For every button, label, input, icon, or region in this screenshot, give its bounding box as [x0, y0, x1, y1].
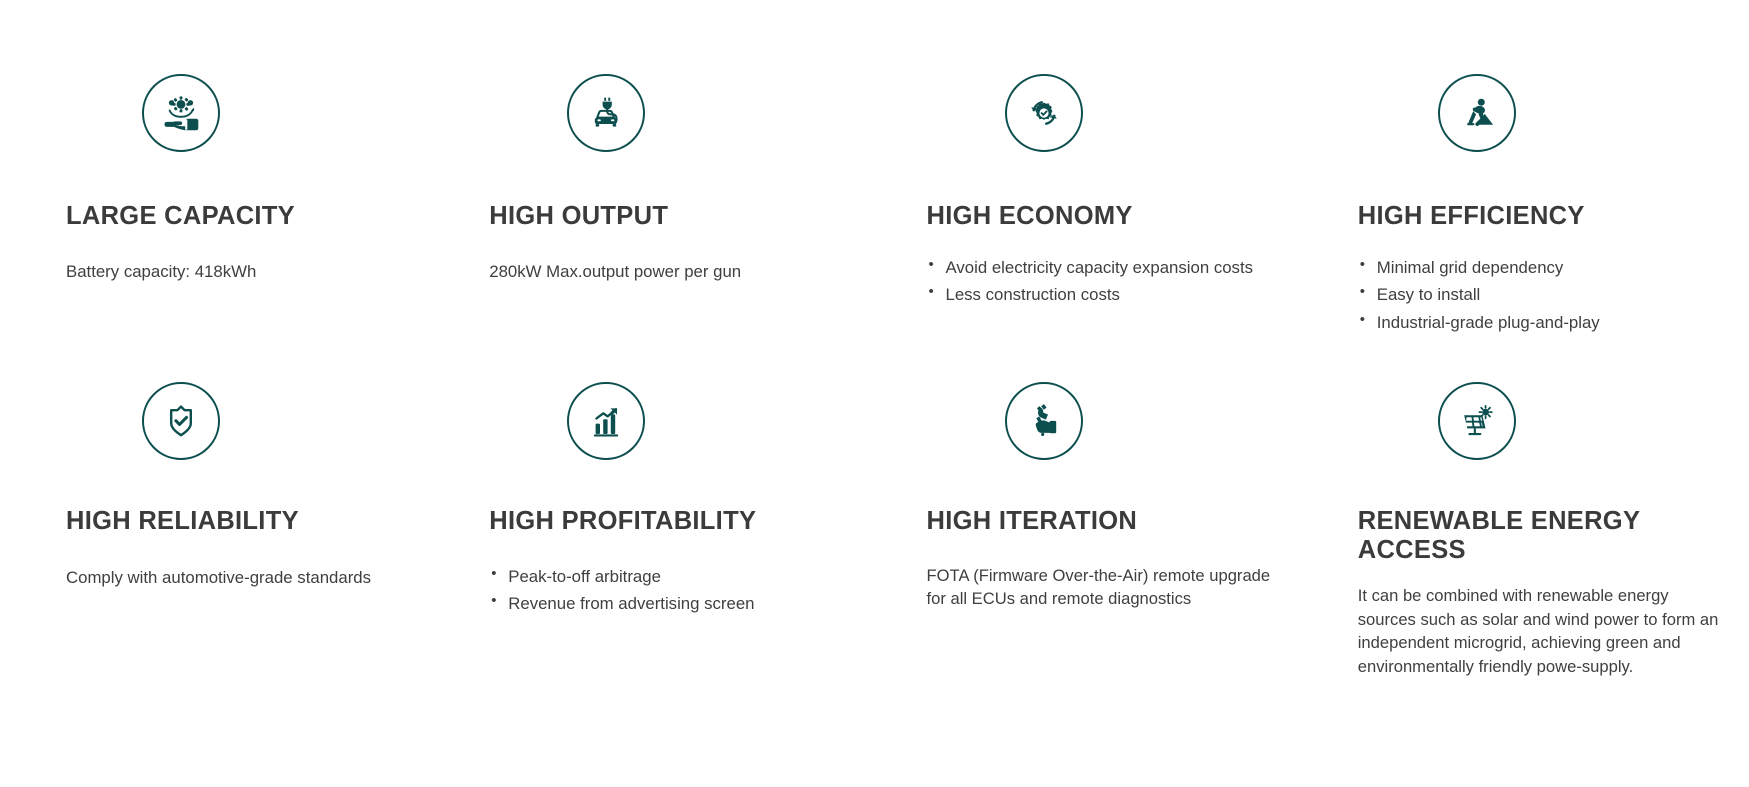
card-body: Battery capacity: 418kWh	[66, 258, 396, 286]
list-item: Avoid electricity capacity expansion cos…	[927, 255, 1257, 281]
list-item: Less construction costs	[927, 282, 1257, 308]
card-title: RENEWABLE ENERGY ACCESS	[1358, 507, 1688, 564]
solar-panel-sun-icon	[1438, 382, 1516, 460]
gear-on-hand-icon	[142, 74, 220, 152]
ev-charging-car-icon	[567, 74, 645, 152]
card-body: Comply with automotive-grade standards	[66, 564, 396, 592]
feature-card-high-efficiency: HIGH EFFICIENCY Minimal grid dependency …	[1312, 0, 1749, 337]
card-title: HIGH PROFITABILITY	[489, 507, 854, 536]
feature-grid: LARGE CAPACITY Battery capacity: 418kWh	[0, 0, 1749, 678]
feature-card-high-economy: HIGH ECONOMY Avoid electricity capacity …	[875, 0, 1312, 337]
feature-grid-board: LARGE CAPACITY Battery capacity: 418kWh	[0, 0, 1749, 787]
card-title: LARGE CAPACITY	[66, 202, 417, 231]
feature-card-high-profitability: HIGH PROFITABILITY Peak-to-off arbitrage…	[437, 337, 874, 678]
feature-card-renewable-energy-access: RENEWABLE ENERGY ACCESS It can be combin…	[1312, 337, 1749, 678]
feature-card-large-capacity: LARGE CAPACITY Battery capacity: 418kWh	[0, 0, 437, 337]
card-title: HIGH ECONOMY	[927, 202, 1288, 231]
gear-cycle-arrows-icon	[1005, 74, 1083, 152]
list-item: Revenue from advertising screen	[489, 591, 819, 617]
card-bullet-list: Peak-to-off arbitrage Revenue from adver…	[489, 564, 819, 617]
wrench-hand-icon	[1005, 382, 1083, 460]
feature-card-high-reliability: HIGH RELIABILITY Comply with automotive-…	[0, 337, 437, 678]
card-title: HIGH RELIABILITY	[66, 507, 417, 536]
list-item: Peak-to-off arbitrage	[489, 564, 819, 590]
card-bullet-list: Minimal grid dependency Easy to install …	[1358, 255, 1688, 336]
list-item: Industrial-grade plug-and-play	[1358, 310, 1688, 336]
card-title: HIGH OUTPUT	[489, 202, 854, 231]
card-body: 280kW Max.output power per gun	[489, 258, 819, 286]
card-body: It can be combined with renewable energy…	[1358, 584, 1729, 678]
card-title: HIGH EFFICIENCY	[1358, 202, 1729, 231]
feature-card-high-output: HIGH OUTPUT 280kW Max.output power per g…	[437, 0, 874, 337]
card-bullet-list: Avoid electricity capacity expansion cos…	[927, 255, 1257, 308]
growth-bar-chart-icon	[567, 382, 645, 460]
list-item: Minimal grid dependency	[1358, 255, 1688, 281]
shield-check-icon	[142, 382, 220, 460]
card-title: HIGH ITERATION	[927, 507, 1288, 536]
feature-card-high-iteration: HIGH ITERATION FOTA (Firmware Over-the-A…	[875, 337, 1312, 678]
card-body: FOTA (Firmware Over-the-Air) remote upgr…	[927, 564, 1288, 611]
list-item: Easy to install	[1358, 282, 1688, 308]
construction-worker-icon	[1438, 74, 1516, 152]
